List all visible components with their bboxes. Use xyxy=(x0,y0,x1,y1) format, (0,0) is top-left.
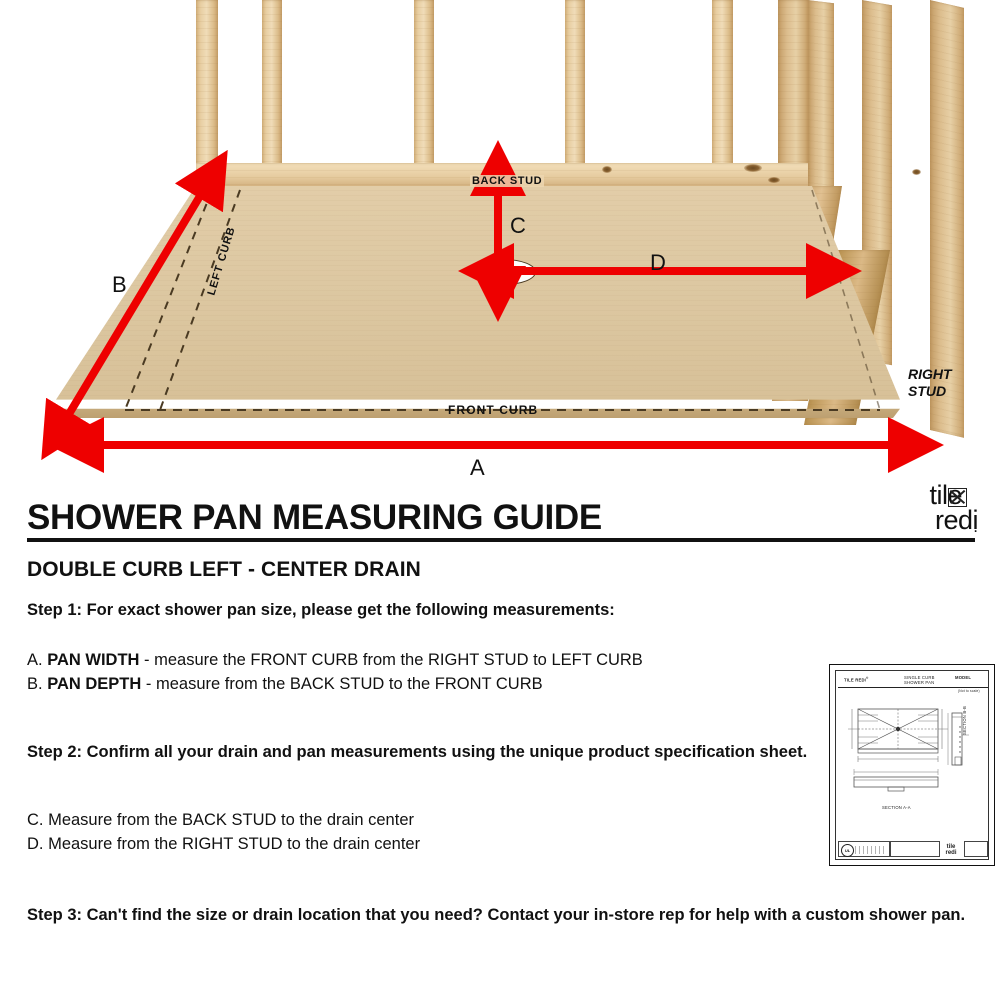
measurements-ab: A. PAN WIDTH - measure the FRONT CURB fr… xyxy=(27,648,827,696)
measurements-cd: C. Measure from the BACK STUD to the dra… xyxy=(27,808,727,856)
measurement-a-row: A. PAN WIDTH - measure the FRONT CURB fr… xyxy=(27,648,827,672)
spec-cert-hatch xyxy=(855,846,887,854)
title-divider xyxy=(27,538,975,542)
page-title: SHOWER PAN MEASURING GUIDE xyxy=(27,498,602,538)
specification-sheet-thumbnail[interactable]: TILE REDI® SINGLE CURB SHOWER PAN MODEL … xyxy=(829,664,995,866)
tile-redi-logo: tile redi . xyxy=(870,483,978,541)
measurement-b-row: B. PAN DEPTH - measure from the BACK STU… xyxy=(27,672,827,696)
spec-footer-cert-cell: UL xyxy=(838,841,890,857)
shower-pan-photo: BACK STUD FRONT CURB LEFT CURB RIGHT STU… xyxy=(0,0,1000,478)
measurement-c-row: C. Measure from the BACK STUD to the dra… xyxy=(27,808,727,832)
spec-footer-logo-cell: tile redi xyxy=(940,841,962,857)
dimension-label-d: D xyxy=(650,250,666,276)
logo-registered-mark: . xyxy=(973,517,978,537)
measurement-b-term: PAN DEPTH xyxy=(47,675,141,693)
step-3-text: Step 3: Can't find the size or drain loc… xyxy=(27,903,977,927)
label-right-stud: RIGHT STUD xyxy=(908,366,952,400)
dimension-label-a: A xyxy=(470,455,485,478)
logo-x-square-icon xyxy=(948,488,967,507)
spec-footer-revision-cell xyxy=(964,841,988,857)
spec-footer-notes-cell xyxy=(890,841,940,857)
measurement-a-letter: A. xyxy=(27,651,43,669)
ul-certification-icon: UL xyxy=(841,844,854,857)
measurement-a-rest: - measure the FRONT CURB from the RIGHT … xyxy=(144,651,643,669)
measurement-b-letter: B. xyxy=(27,675,43,693)
ul-cert-text: UL xyxy=(845,848,850,853)
label-front-curb: FRONT CURB xyxy=(448,403,538,417)
step-1-text: Step 1: For exact shower pan size, pleas… xyxy=(27,598,827,622)
spec-drawing xyxy=(830,665,995,866)
logo-text-redi: redi xyxy=(870,508,978,533)
label-right-stud-line2: STUD xyxy=(908,383,946,399)
shower-pan-measuring-guide-page: BACK STUD FRONT CURB LEFT CURB RIGHT STU… xyxy=(0,0,1000,1000)
page-subtitle: DOUBLE CURB LEFT - CENTER DRAIN xyxy=(27,558,421,582)
dimension-label-b: B xyxy=(112,272,127,298)
measurement-d-row: D. Measure from the RIGHT STUD to the dr… xyxy=(27,832,727,856)
measurement-b-rest: - measure from the BACK STUD to the FRON… xyxy=(146,675,543,693)
label-right-stud-line1: RIGHT xyxy=(908,366,952,382)
spec-footer-logo: tile redi xyxy=(941,844,961,856)
label-back-stud: BACK STUD xyxy=(470,175,544,187)
spec-section-bb-label: SECTION B-B xyxy=(962,706,967,735)
spec-section-aa-label: SECTION A-A xyxy=(882,805,911,810)
measurement-a-term: PAN WIDTH xyxy=(47,651,139,669)
step-2-text: Step 2: Confirm all your drain and pan m… xyxy=(27,740,822,764)
spec-logo-redi: redi xyxy=(945,850,956,856)
dimension-label-c: C xyxy=(510,213,526,239)
